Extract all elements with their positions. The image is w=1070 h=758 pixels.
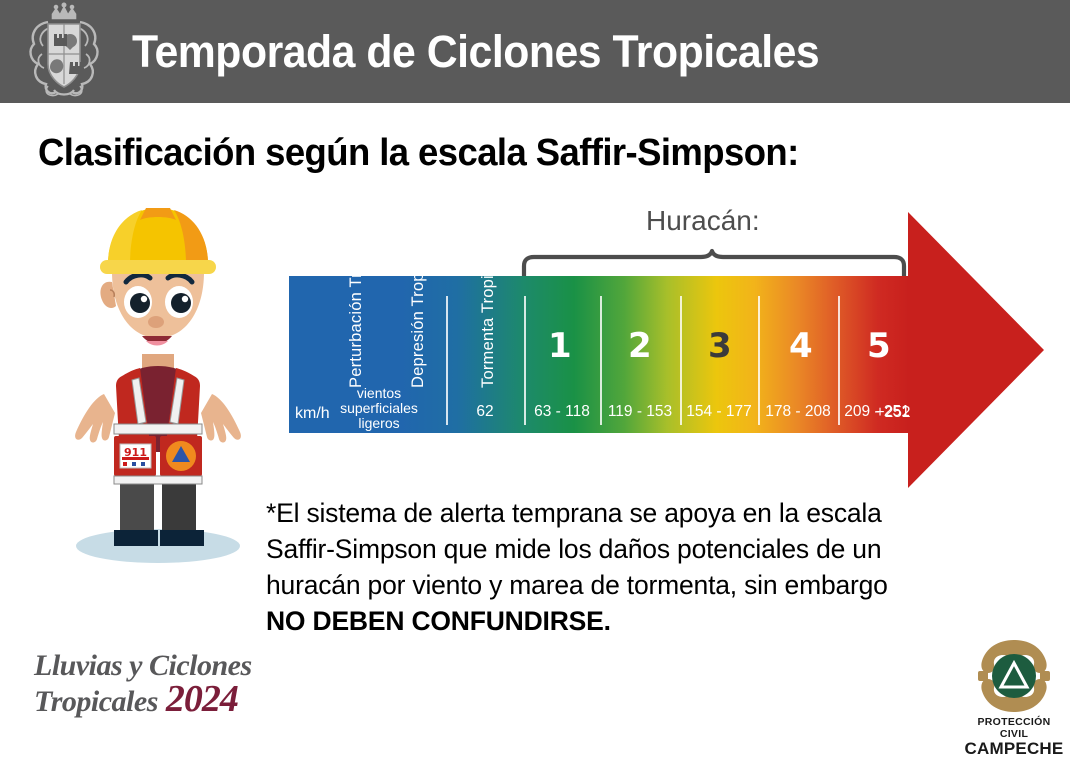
range-tormenta: 63 - 118: [524, 404, 600, 420]
category-number-4: 4: [789, 326, 812, 366]
proteccion-civil-mayan-seal-icon: [962, 636, 1066, 716]
vientos-line3: ligeros: [329, 416, 429, 431]
saffir-simpson-scale: Perturbación Tropical Depresión Tropical…: [289, 276, 909, 433]
proteccion-civil-logo: PROTECCIÓN CIVIL CAMPECHE: [962, 636, 1066, 746]
segment-name-tormenta: Tormenta Tropical: [479, 306, 497, 388]
unit-label: km/h: [295, 405, 330, 423]
civil-protection-worker-illustration: 911: [42, 186, 274, 576]
agency-line-2: CAMPECHE: [962, 740, 1066, 758]
vientos-line2: superficiales: [329, 401, 429, 416]
note-line-3: huracán por viento y marea de tormenta, …: [266, 567, 1026, 603]
agency-line-1: PROTECCIÓN CIVIL: [962, 716, 1066, 740]
page-title: Temporada de Ciclones Tropicales: [132, 26, 819, 78]
range-cat-3: 178 - 208: [758, 404, 838, 420]
right-arrow-icon: [900, 210, 1045, 490]
campaign-line-2: Tropicales: [34, 685, 158, 719]
segment-name-perturbacion: Perturbación Tropical: [347, 290, 365, 388]
segment-sublabel-perturbacion: vientos superficiales ligeros: [329, 386, 429, 431]
disclaimer-note: *El sistema de alerta temprana se apoya …: [266, 495, 1026, 639]
range-depresion: 62: [446, 404, 524, 420]
range-cat-2: 154 - 177: [680, 404, 758, 420]
huracan-bracket-label: Huracán:: [646, 205, 760, 237]
range-cat-5-display: +252: [861, 404, 925, 422]
campeche-coat-of-arms-icon: [18, 2, 110, 102]
category-number-5: 5: [867, 326, 890, 366]
category-number-1: 1: [548, 326, 571, 366]
campaign-logo: Lluvias y Ciclones Tropicales 2024: [34, 650, 334, 730]
header-banner: Temporada de Ciclones Tropicales: [0, 0, 1070, 103]
infographic-root: { "header": { "title": "Temporada de Cic…: [0, 0, 1070, 750]
vientos-line1: vientos: [329, 386, 429, 401]
note-line-1: *El sistema de alerta temprana se apoya …: [266, 495, 1026, 531]
range-cat-1: 119 - 153: [600, 404, 680, 420]
campaign-year: 2024: [166, 682, 238, 716]
segment-name-depresion: Depresión Tropical: [409, 306, 427, 388]
category-number-3: 3: [708, 326, 731, 366]
note-line-2: Saffir-Simpson que mide los daños potenc…: [266, 531, 1026, 567]
note-emphasis: NO DEBEN CONFUNDIRSE.: [266, 606, 611, 636]
category-number-2: 2: [628, 326, 651, 366]
subtitle-heading: Clasificación según la escala Saffir-Sim…: [38, 132, 799, 175]
